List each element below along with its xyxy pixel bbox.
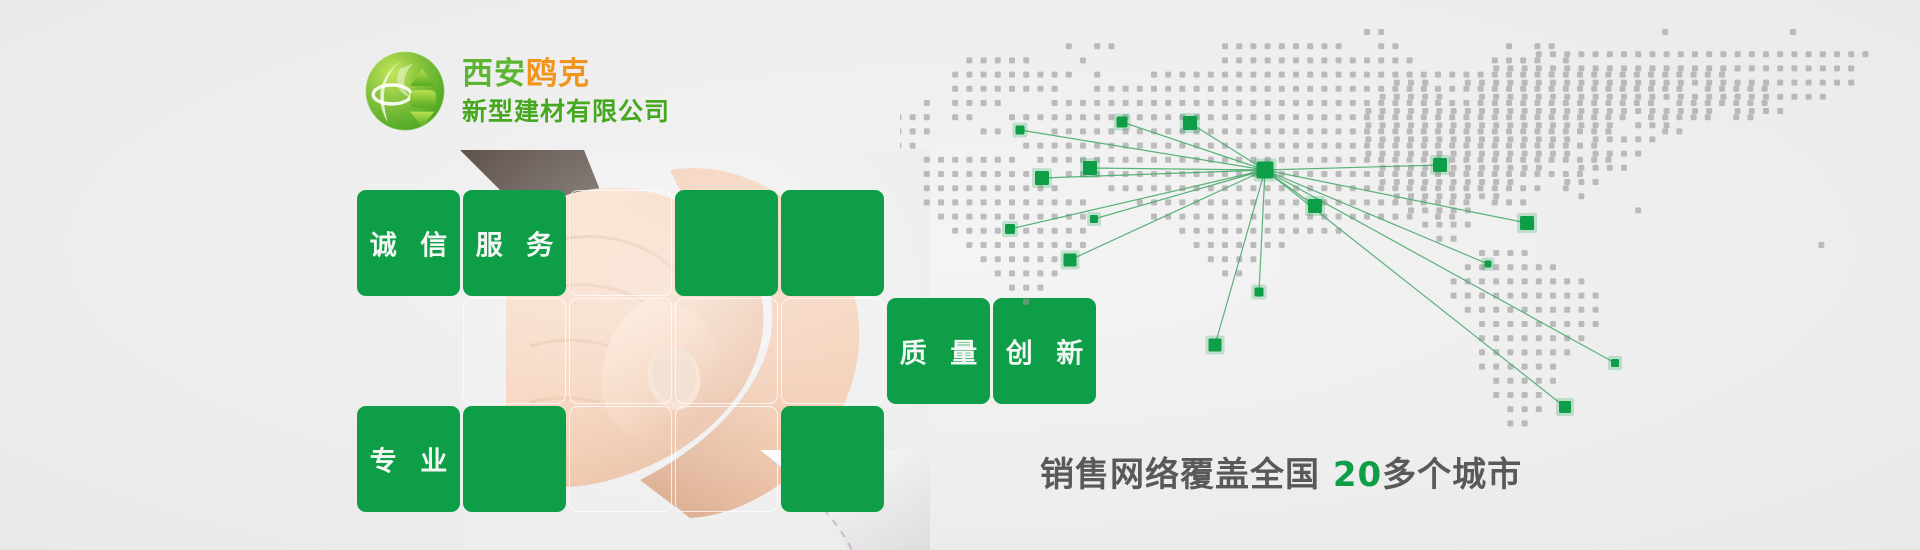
tile-photo-r2c5 xyxy=(781,298,884,404)
world-network-map xyxy=(900,10,1920,430)
logo-title-line: 西安鸥克 xyxy=(462,59,670,90)
tile-plain-r1c4 xyxy=(675,190,778,296)
tile-photo-r2c2 xyxy=(463,298,566,404)
map-city-node xyxy=(1520,216,1534,230)
tagline-number: 20 xyxy=(1333,455,1382,495)
tile-photo-r3c4 xyxy=(675,406,778,512)
tagline-suffix: 多个城市 xyxy=(1382,455,1522,495)
tile-service[interactable]: 服 务 xyxy=(463,190,566,296)
map-city-node xyxy=(1016,126,1025,135)
network-coverage-tagline: 销售网络覆盖全国 20多个城市 xyxy=(1040,447,1522,496)
map-city-node xyxy=(1090,215,1098,223)
map-city-node xyxy=(1183,116,1197,130)
tile-label: 服 务 xyxy=(463,224,566,263)
tile-photo-r2c4 xyxy=(675,298,778,404)
map-city-node xyxy=(1433,158,1447,172)
map-city-node xyxy=(1255,288,1264,297)
logo-wordmark: 西安鸥克 新型建材有限公司 xyxy=(462,59,670,124)
tile-photo-r3c3 xyxy=(569,406,672,512)
green-globe-leaf-icon xyxy=(362,48,448,134)
map-dot-layer xyxy=(900,29,1868,426)
map-city-node xyxy=(1005,224,1015,234)
map-city-node xyxy=(1559,401,1571,413)
tile-plain-r3c2 xyxy=(463,406,566,512)
map-city-node xyxy=(1611,359,1619,367)
map-hub-node xyxy=(1257,162,1274,179)
dotted-world-map xyxy=(900,10,1920,430)
logo-city-text: 西安 xyxy=(462,56,526,92)
tile-label: 诚 信 xyxy=(357,224,460,263)
tile-photo-r2c3 xyxy=(569,298,672,404)
tagline-prefix: 销售网络覆盖全国 xyxy=(1040,455,1333,495)
tile-professional[interactable]: 专 业 xyxy=(357,406,460,512)
tile-photo-r1c3 xyxy=(569,190,672,296)
map-city-node xyxy=(1485,261,1492,268)
company-logo[interactable]: 西安鸥克 新型建材有限公司 xyxy=(362,48,670,134)
tile-integrity[interactable]: 诚 信 xyxy=(357,190,460,296)
logo-subtitle: 新型建材有限公司 xyxy=(462,99,670,124)
tile-plain-r1c5 xyxy=(781,190,884,296)
tile-plain-r3c5 xyxy=(781,406,884,512)
map-city-node xyxy=(1064,254,1077,267)
map-city-node xyxy=(1209,339,1222,352)
map-city-node xyxy=(1083,161,1097,175)
map-city-node xyxy=(1035,171,1049,185)
logo-brand-text: 鸥克 xyxy=(526,56,590,92)
tile-label: 专 业 xyxy=(357,440,460,479)
map-city-node xyxy=(1308,199,1322,213)
company-banner: 西安鸥克 新型建材有限公司 xyxy=(0,0,1920,550)
map-city-node xyxy=(1117,117,1128,128)
